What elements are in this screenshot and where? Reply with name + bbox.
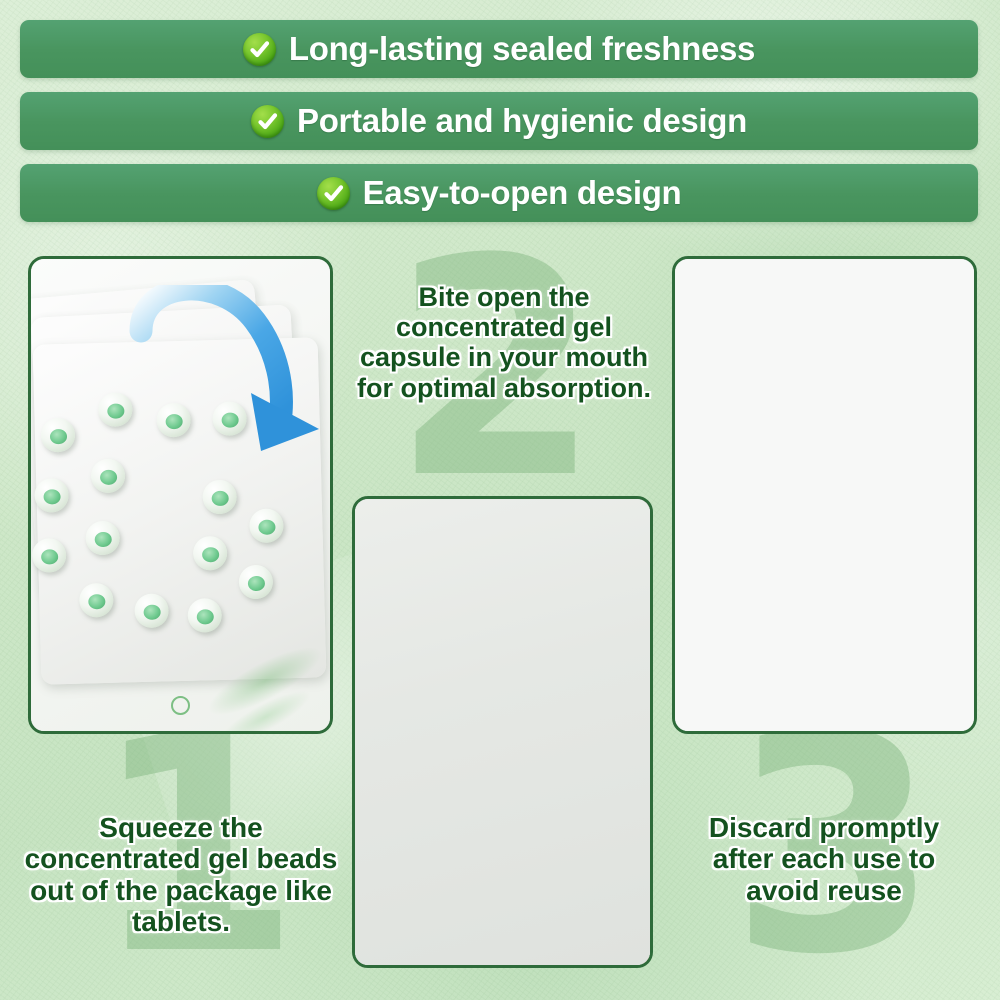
gel-bead [249,508,284,543]
step-1-caption: Squeeze the concentrated gel beads out o… [20,812,342,937]
gel-bead [41,418,76,453]
feature-banner-list: Long-lasting sealed freshness Portable a… [20,20,978,236]
trash-sign-background [675,259,974,731]
feature-banner-2: Portable and hygienic design [20,92,978,150]
gel-bead [85,521,120,556]
gel-bead [91,458,126,493]
gel-bead [32,538,67,573]
check-circle-icon [243,33,276,66]
gel-bead [34,478,69,513]
gel-bead [79,583,114,618]
feature-banner-3: Easy-to-open design [20,164,978,222]
check-circle-icon [317,177,350,210]
curved-arrow-icon [123,285,333,485]
feature-banner-label-2: Portable and hygienic design [297,102,747,140]
gel-bead [193,536,228,571]
woman-photo-background [355,499,650,965]
step-2-image-panel [352,496,653,968]
feature-banner-label-3: Easy-to-open design [363,174,682,212]
feature-banner-label-1: Long-lasting sealed freshness [289,30,755,68]
step-2-caption: Bite open the concentrated gel capsule i… [348,282,660,403]
check-circle-icon [251,105,284,138]
step-1-image-panel [28,256,333,734]
gel-bead [134,593,169,628]
step-3-caption: Discard promptly after each use to avoid… [668,812,980,906]
feature-banner-1: Long-lasting sealed freshness [20,20,978,78]
step-3-image-panel [672,256,977,734]
